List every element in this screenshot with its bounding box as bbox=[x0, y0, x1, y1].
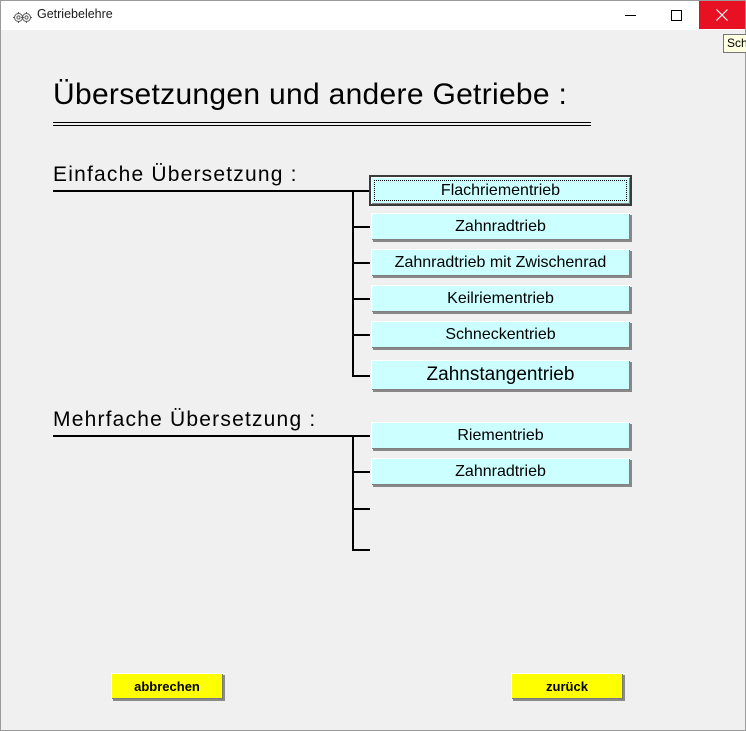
back-button[interactable]: zurück bbox=[511, 673, 623, 699]
topic-button-label: Zahnradtrieb mit Zwischenrad bbox=[395, 254, 607, 271]
gears-icon bbox=[13, 10, 33, 21]
tree-branch bbox=[352, 226, 370, 228]
tree-branch bbox=[352, 190, 370, 192]
topic-button-label: Schneckentrieb bbox=[445, 326, 555, 343]
tree-trunk-1 bbox=[352, 190, 354, 376]
maximize-button[interactable] bbox=[653, 1, 699, 29]
group-divider-2 bbox=[53, 435, 353, 437]
topic-button-riementrieb[interactable]: Riementrieb bbox=[371, 422, 630, 449]
tree-branch bbox=[352, 298, 370, 300]
page-title-divider bbox=[53, 122, 591, 126]
back-button-label: zurück bbox=[546, 679, 588, 694]
group-label-mehrfache-uebersetzung: Mehrfache Übersetzung : bbox=[53, 408, 316, 432]
close-icon bbox=[716, 9, 728, 21]
application-window: Getriebelehre Übersetzungen und andere G… bbox=[0, 0, 746, 731]
group-divider-1 bbox=[53, 190, 353, 192]
topic-button-schneckentrieb[interactable]: Schneckentrieb bbox=[371, 321, 630, 348]
topic-button-flachriementrieb[interactable]: Flachriementrieb bbox=[371, 177, 630, 204]
close-button-tooltip: Sch bbox=[723, 34, 746, 53]
maximize-icon bbox=[671, 10, 682, 21]
cancel-button[interactable]: abbrechen bbox=[111, 673, 223, 699]
tree-branch-empty bbox=[352, 549, 370, 551]
title-bar: Getriebelehre bbox=[1, 1, 745, 31]
minimize-icon bbox=[625, 10, 636, 21]
tree-branch bbox=[352, 262, 370, 264]
cancel-button-label: abbrechen bbox=[134, 679, 200, 694]
group-label-einfache-uebersetzung: Einfache Übersetzung : bbox=[53, 163, 298, 187]
topic-button-label: Flachriementrieb bbox=[441, 182, 560, 199]
tree-branch-empty bbox=[352, 508, 370, 510]
topic-button-zahnradtrieb[interactable]: Zahnradtrieb bbox=[371, 213, 630, 240]
topic-button-zahnradtrieb-mit-zwischenrad[interactable]: Zahnradtrieb mit Zwischenrad bbox=[371, 249, 630, 276]
topic-button-mehrfach-zahnradtrieb[interactable]: Zahnradtrieb bbox=[371, 458, 630, 485]
client-area: Übersetzungen und andere Getriebe : Einf… bbox=[1, 30, 745, 730]
topic-button-label: Zahnradtrieb bbox=[455, 218, 546, 235]
tree-trunk-2 bbox=[352, 435, 354, 550]
tree-branch bbox=[352, 471, 370, 473]
page-title: Übersetzungen und andere Getriebe : bbox=[53, 78, 567, 112]
close-button[interactable] bbox=[699, 1, 745, 29]
topic-button-label: Zahnradtrieb bbox=[455, 463, 546, 480]
tree-branch bbox=[352, 334, 370, 336]
topic-button-zahnstangentrieb[interactable]: Zahnstangentrieb bbox=[371, 360, 630, 390]
topic-button-label: Zahnstangentrieb bbox=[427, 364, 575, 385]
topic-button-label: Keilriementrieb bbox=[447, 290, 554, 307]
topic-button-keilriementrieb[interactable]: Keilriementrieb bbox=[371, 285, 630, 312]
tree-branch bbox=[352, 375, 370, 377]
window-title: Getriebelehre bbox=[37, 7, 113, 21]
minimize-button[interactable] bbox=[607, 1, 653, 29]
tree-branch bbox=[352, 435, 370, 437]
topic-button-label: Riementrieb bbox=[457, 427, 543, 444]
